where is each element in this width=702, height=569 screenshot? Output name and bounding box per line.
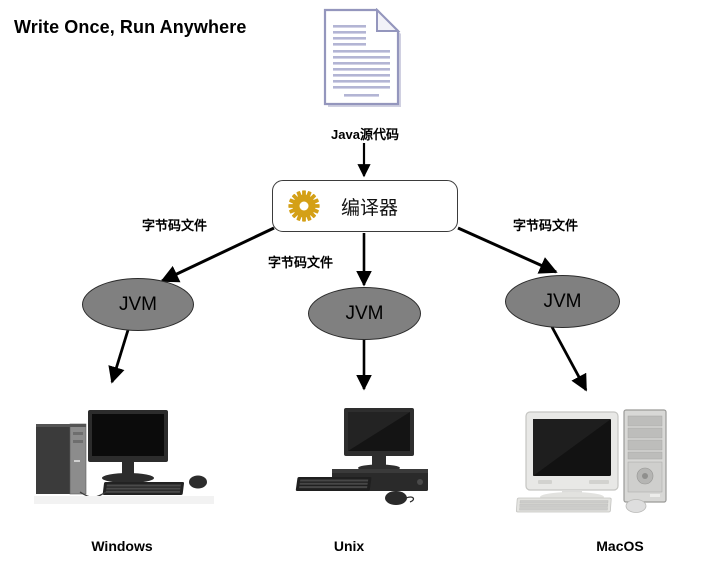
diagram-canvas: Write Once, Run Anywhere (0, 0, 702, 569)
edge-label-middle-bytecode: 字节码文件 (268, 252, 333, 271)
jvm-label: JVM (346, 303, 384, 325)
document-icon (322, 8, 406, 112)
compiler-node[interactable]: 编译器 (272, 180, 458, 232)
platform-label-windows: Windows (67, 538, 177, 554)
jvm-node-macos[interactable]: JVM (505, 275, 620, 328)
jvm-label: JVM (544, 291, 582, 313)
platform-label-macos: MacOS (565, 538, 675, 554)
platform-icon-unix (292, 403, 440, 513)
edge-compiler-to-jvm-left (162, 228, 274, 281)
platform-icon-macos (516, 402, 676, 517)
jvm-node-unix[interactable]: JVM (308, 287, 421, 340)
edge-label-left-bytecode: 字节码文件 (142, 215, 207, 234)
source-label: Java源代码 (305, 124, 425, 143)
edge-jvm-right-to-macos (552, 327, 586, 390)
edge-jvm-left-to-windows (112, 330, 128, 382)
edge-compiler-to-jvm-right (458, 228, 556, 272)
jvm-node-windows[interactable]: JVM (82, 278, 194, 331)
page-title: Write Once, Run Anywhere (14, 17, 246, 38)
edge-label-right-bytecode: 字节码文件 (513, 215, 578, 234)
gear-icon (287, 189, 321, 223)
platform-label-unix: Unix (294, 538, 404, 554)
jvm-label: JVM (119, 294, 157, 316)
platform-icon-windows (30, 402, 230, 512)
compiler-label: 编译器 (341, 193, 398, 220)
